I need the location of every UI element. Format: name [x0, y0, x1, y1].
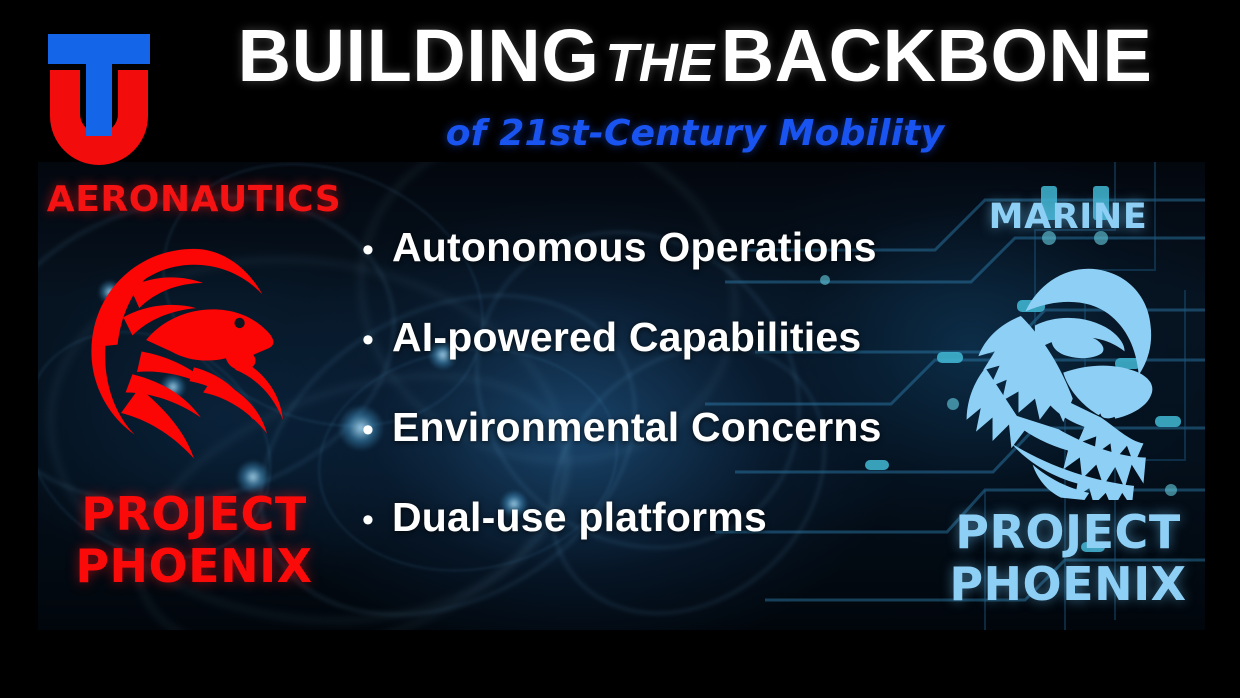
- phoenix-emblem-red-icon: [80, 242, 308, 470]
- bullet-text: Environmental Concerns: [392, 404, 882, 450]
- eagle-emblem-blue-icon: [950, 250, 1186, 500]
- presentation-slide: BUILDINGTHEBACKBONE of 21st-Century Mobi…: [0, 0, 1240, 698]
- right-project-name: PROJECT PHOENIX: [928, 506, 1208, 610]
- slide-header: BUILDINGTHEBACKBONE of 21st-Century Mobi…: [0, 0, 1240, 162]
- bullet-text: Dual-use platforms: [392, 494, 767, 540]
- right-project-line-2: PHOENIX: [928, 558, 1208, 610]
- title-part-1: BUILDING: [238, 14, 600, 97]
- left-project-line-1: PROJECT: [38, 488, 350, 540]
- frame-border-bottom: [0, 630, 1240, 698]
- bullet-text: AI-powered Capabilities: [392, 314, 861, 360]
- aeronautics-label: AERONAUTICS: [38, 178, 350, 222]
- bullet-marker-icon: •: [362, 503, 392, 537]
- page-subtitle: of 21st-Century Mobility: [190, 111, 1200, 157]
- bullet-marker-icon: •: [362, 233, 392, 267]
- bullet-marker-icon: •: [362, 323, 392, 357]
- aeronautics-column: AERONAUTICS: [38, 178, 350, 648]
- tu-logo-icon: [36, 26, 162, 166]
- left-project-line-2: PHOENIX: [38, 540, 350, 592]
- phoenix-emblem-red-container: [38, 232, 350, 480]
- bullet-list: • Autonomous Operations • AI-powered Cap…: [362, 224, 922, 584]
- title-block: BUILDINGTHEBACKBONE of 21st-Century Mobi…: [190, 8, 1200, 157]
- bullet-text: Autonomous Operations: [392, 224, 877, 270]
- list-item: • Autonomous Operations: [362, 224, 922, 314]
- list-item: • Environmental Concerns: [362, 404, 922, 494]
- bullet-marker-icon: •: [362, 413, 392, 447]
- list-item: • Dual-use platforms: [362, 494, 922, 584]
- page-title: BUILDINGTHEBACKBONE: [190, 8, 1200, 111]
- list-item: • AI-powered Capabilities: [362, 314, 922, 404]
- eagle-emblem-blue-container: [928, 240, 1208, 510]
- frame-border-left: [0, 160, 38, 698]
- title-emphasis: THE: [599, 33, 721, 93]
- left-project-name: PROJECT PHOENIX: [38, 488, 350, 592]
- marine-column: MARINE: [928, 196, 1208, 648]
- right-project-line-1: PROJECT: [928, 506, 1208, 558]
- title-part-2: BACKBONE: [721, 14, 1153, 97]
- frame-border-right: [1205, 160, 1240, 698]
- marine-label: MARINE: [928, 196, 1208, 238]
